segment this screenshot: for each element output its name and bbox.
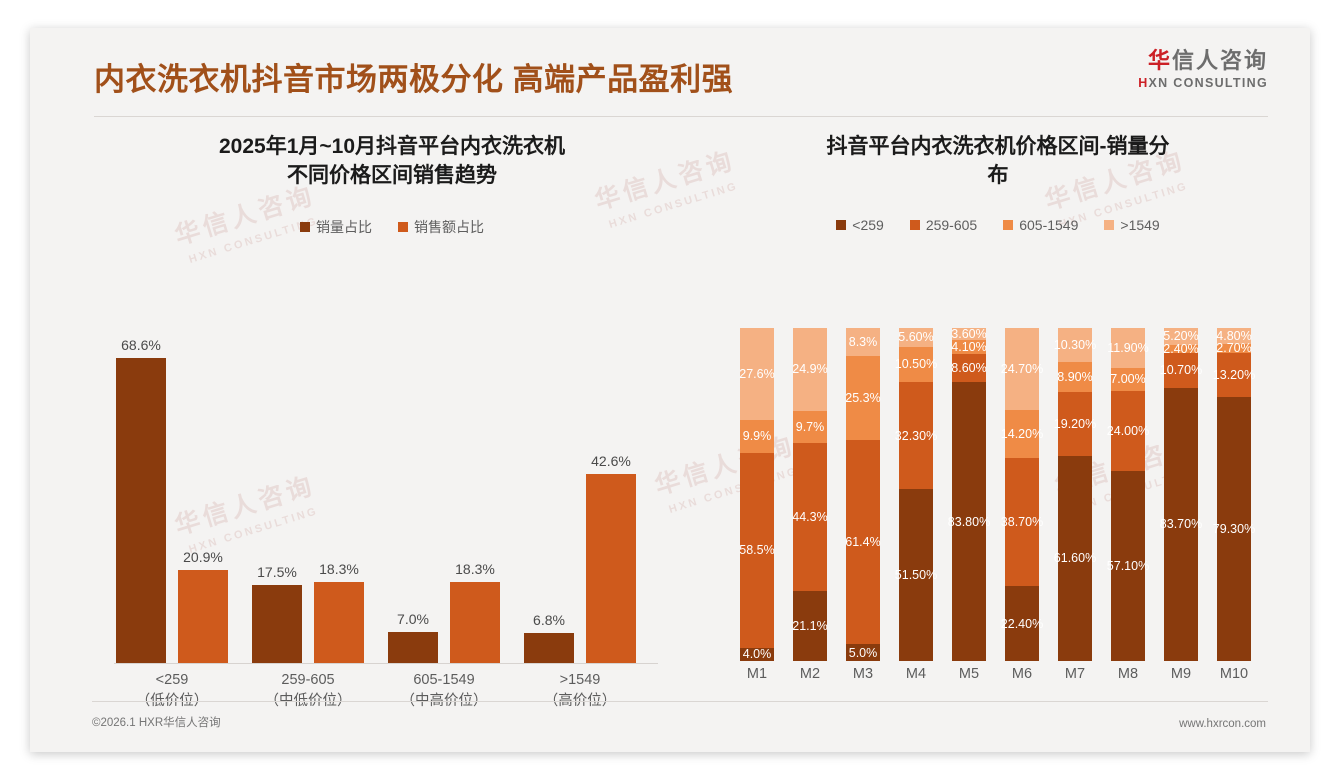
x-tick-label: M3 — [846, 666, 880, 682]
stack-segment: 83.80% — [952, 382, 986, 661]
logo-chinese-red: 华 — [1148, 48, 1172, 73]
table-row[interactable]: 6.8% — [524, 633, 574, 663]
x-tick-label: M6 — [1005, 666, 1039, 682]
bar-rect — [524, 633, 574, 663]
x-tick-label: M1 — [740, 666, 774, 682]
stack-segment: 57.10% — [1111, 471, 1145, 661]
stack-segment: 5.0% — [846, 644, 880, 661]
bar-value-label: 17.5% — [257, 564, 297, 580]
table-row[interactable]: 20.9% — [178, 570, 228, 663]
stack-segment: 5.60% — [899, 328, 933, 347]
legend-item-259-605[interactable]: 259-605 — [910, 217, 977, 233]
x-tick-label: M10 — [1217, 666, 1251, 682]
list-item[interactable]: 10.30% 8.90% 19.20% 61.60% — [1058, 328, 1092, 661]
legend-item-sales-value[interactable]: 销售额占比 — [398, 217, 484, 237]
x-tick-label: M4 — [899, 666, 933, 682]
stack-segment: 58.5% — [740, 453, 774, 648]
x-tick-label: M8 — [1111, 666, 1145, 682]
list-item[interactable]: 11.90% 7.00% 24.00% 57.10% — [1111, 328, 1145, 661]
logo-english-gray: XN CONSULTING — [1149, 76, 1268, 90]
stack-segment: 8.90% — [1058, 362, 1092, 392]
header-divider — [94, 116, 1268, 117]
legend-label: 销售额占比 — [414, 217, 484, 237]
right-chart-panel: 抖音平台内衣洗衣机价格区间-销量分 布 <259 259-605 605-154… — [710, 132, 1286, 233]
list-item[interactable]: 4.80% 2.70% 13.20% 79.30% — [1217, 328, 1251, 661]
stack-segment: 9.7% — [793, 411, 827, 443]
left-chart-title: 2025年1月~10月抖音平台内衣洗衣机 不同价格区间销售趋势 — [92, 132, 692, 191]
legend-swatch-icon — [910, 220, 920, 230]
stack-segment: 25.3% — [846, 356, 880, 440]
stack-segment: 2.40% — [1164, 345, 1198, 353]
legend-swatch-icon — [398, 222, 408, 232]
bar-group: 7.0% 18.3% — [386, 582, 502, 663]
left-bar-chart-plot: 68.6% 20.9% 17.5% 18.3% 7.0% — [92, 304, 658, 664]
bar-rect — [314, 582, 364, 663]
legend-swatch-icon — [1003, 220, 1013, 230]
stack-segment: 21.1% — [793, 591, 827, 661]
footer-copyright: ©2026.1 HXR华信人咨询 — [92, 714, 221, 730]
left-chart-legend: 销量占比 销售额占比 — [92, 217, 692, 237]
legend-label: <259 — [852, 217, 884, 233]
x-tick-label: <259 （低价位） — [114, 670, 230, 712]
legend-label: >1549 — [1120, 217, 1159, 233]
stack-segment: 7.00% — [1111, 368, 1145, 391]
stack-segment: 3.60% — [952, 328, 986, 340]
legend-item-sales-volume[interactable]: 销量占比 — [300, 217, 372, 237]
bar-group: 68.6% 20.9% — [114, 358, 230, 663]
legend-label: 销量占比 — [316, 217, 372, 237]
stack-segment: 24.9% — [793, 328, 827, 411]
stack-segment: 61.60% — [1058, 456, 1092, 661]
footer-website[interactable]: www.hxrcon.com — [1179, 718, 1266, 730]
stack-segment: 10.70% — [1164, 353, 1198, 388]
stack-segment: 24.00% — [1111, 391, 1145, 471]
company-logo: 华信人咨询 HXN CONSULTING — [1138, 50, 1268, 90]
stack-segment: 32.30% — [899, 382, 933, 490]
stack-segment: 83.70% — [1164, 388, 1198, 661]
stack-segment: 4.10% — [952, 340, 986, 354]
bar-rect — [388, 632, 438, 663]
slide-header: 内衣洗衣机抖音市场两极分化 高端产品盈利强 华信人咨询 HXN CONSULTI… — [30, 28, 1310, 120]
x-tick-label: 259-605 （中低价位） — [250, 670, 366, 712]
logo-english-red: H — [1138, 76, 1148, 90]
legend-swatch-icon — [1104, 220, 1114, 230]
bar-rect — [450, 582, 500, 663]
list-item[interactable]: 5.20% 2.40% 10.70% 83.70% — [1164, 328, 1198, 661]
legend-swatch-icon — [300, 222, 310, 232]
logo-chinese-gray: 信人咨询 — [1172, 48, 1268, 73]
stack-segment: 19.20% — [1058, 392, 1092, 456]
stack-segment: 79.30% — [1217, 397, 1251, 661]
x-tick-label: M9 — [1164, 666, 1198, 682]
stack-segment: 10.50% — [899, 347, 933, 382]
bar-value-label: 7.0% — [397, 611, 429, 627]
bar-value-label: 6.8% — [533, 612, 565, 628]
x-tick-label: M2 — [793, 666, 827, 682]
stack-segment: 24.70% — [1005, 328, 1039, 410]
table-row[interactable]: 7.0% — [388, 632, 438, 663]
bar-value-label: 20.9% — [183, 549, 223, 565]
logo-english: HXN CONSULTING — [1138, 77, 1268, 90]
stack-segment: 61.4% — [846, 440, 880, 644]
legend-item-605-1549[interactable]: 605-1549 — [1003, 217, 1078, 233]
bar-group: 6.8% 42.6% — [522, 474, 638, 663]
bar-value-label: 68.6% — [121, 337, 161, 353]
list-item[interactable]: 5.60% 10.50% 32.30% 51.50% — [899, 328, 933, 661]
bar-group: 17.5% 18.3% — [250, 582, 366, 663]
left-chart-axis — [114, 663, 658, 664]
bar-rect — [252, 585, 302, 663]
list-item[interactable]: 27.6% 9.9% 58.5% 4.0% — [740, 328, 774, 661]
bar-value-label: 42.6% — [591, 453, 631, 469]
logo-chinese: 华信人咨询 — [1138, 50, 1268, 72]
stack-segment: 8.3% — [846, 328, 880, 356]
table-row[interactable]: 18.3% — [450, 582, 500, 663]
slide-frame: 内衣洗衣机抖音市场两极分化 高端产品盈利强 华信人咨询 HXN CONSULTI… — [30, 28, 1310, 752]
right-stacked-chart-plot: 27.6% 9.9% 58.5% 4.0% 24.9% 9.7% 44.3% 2… — [730, 328, 1266, 661]
stack-segment: 2.70% — [1217, 344, 1251, 353]
stack-segment: 51.50% — [899, 489, 933, 661]
stack-segment: 13.20% — [1217, 353, 1251, 397]
table-row[interactable]: 68.6% — [116, 358, 166, 663]
bar-rect — [116, 358, 166, 663]
legend-item-under-259[interactable]: <259 — [836, 217, 884, 233]
legend-item-over-1549[interactable]: >1549 — [1104, 217, 1159, 233]
stack-segment: 10.30% — [1058, 328, 1092, 362]
right-chart-title: 抖音平台内衣洗衣机价格区间-销量分 布 — [710, 132, 1286, 191]
left-chart-panel: 2025年1月~10月抖音平台内衣洗衣机 不同价格区间销售趋势 销量占比 销售额… — [92, 132, 692, 237]
stack-segment: 14.20% — [1005, 410, 1039, 457]
legend-label: 259-605 — [926, 217, 977, 233]
bar-rect — [178, 570, 228, 663]
page-title: 内衣洗衣机抖音市场两极分化 高端产品盈利强 — [94, 54, 733, 99]
list-item[interactable]: 24.9% 9.7% 44.3% 21.1% — [793, 328, 827, 661]
list-item[interactable]: 3.60% 4.10% 8.60% 83.80% — [952, 328, 986, 661]
stack-segment: 11.90% — [1111, 328, 1145, 368]
x-tick-label: 605-1549 （中高价位） — [386, 670, 502, 712]
table-row[interactable]: 17.5% — [252, 585, 302, 663]
stack-segment: 9.9% — [740, 420, 774, 453]
legend-label: 605-1549 — [1019, 217, 1078, 233]
bar-value-label: 18.3% — [319, 561, 359, 577]
bar-value-label: 18.3% — [455, 561, 495, 577]
bar-rect — [586, 474, 636, 663]
list-item[interactable]: 8.3% 25.3% 61.4% 5.0% — [846, 328, 880, 661]
stack-segment: 8.60% — [952, 354, 986, 383]
footer-divider — [92, 701, 1268, 702]
list-item[interactable]: 24.70% 14.20% 38.70% 22.40% — [1005, 328, 1039, 661]
x-tick-label: >1549 （高价位） — [522, 670, 638, 712]
table-row[interactable]: 18.3% — [314, 582, 364, 663]
stack-segment: 27.6% — [740, 328, 774, 420]
stack-segment: 22.40% — [1005, 586, 1039, 661]
stack-segment: 38.70% — [1005, 458, 1039, 587]
stack-segment: 4.0% — [740, 648, 774, 661]
table-row[interactable]: 42.6% — [586, 474, 636, 663]
legend-swatch-icon — [836, 220, 846, 230]
x-tick-label: M7 — [1058, 666, 1092, 682]
x-tick-label: M5 — [952, 666, 986, 682]
stack-segment: 44.3% — [793, 443, 827, 591]
right-chart-legend: <259 259-605 605-1549 >1549 — [710, 217, 1286, 233]
right-chart-x-axis-labels: M1 M2 M3 M4 M5 M6 M7 M8 M9 M10 — [730, 666, 1266, 694]
